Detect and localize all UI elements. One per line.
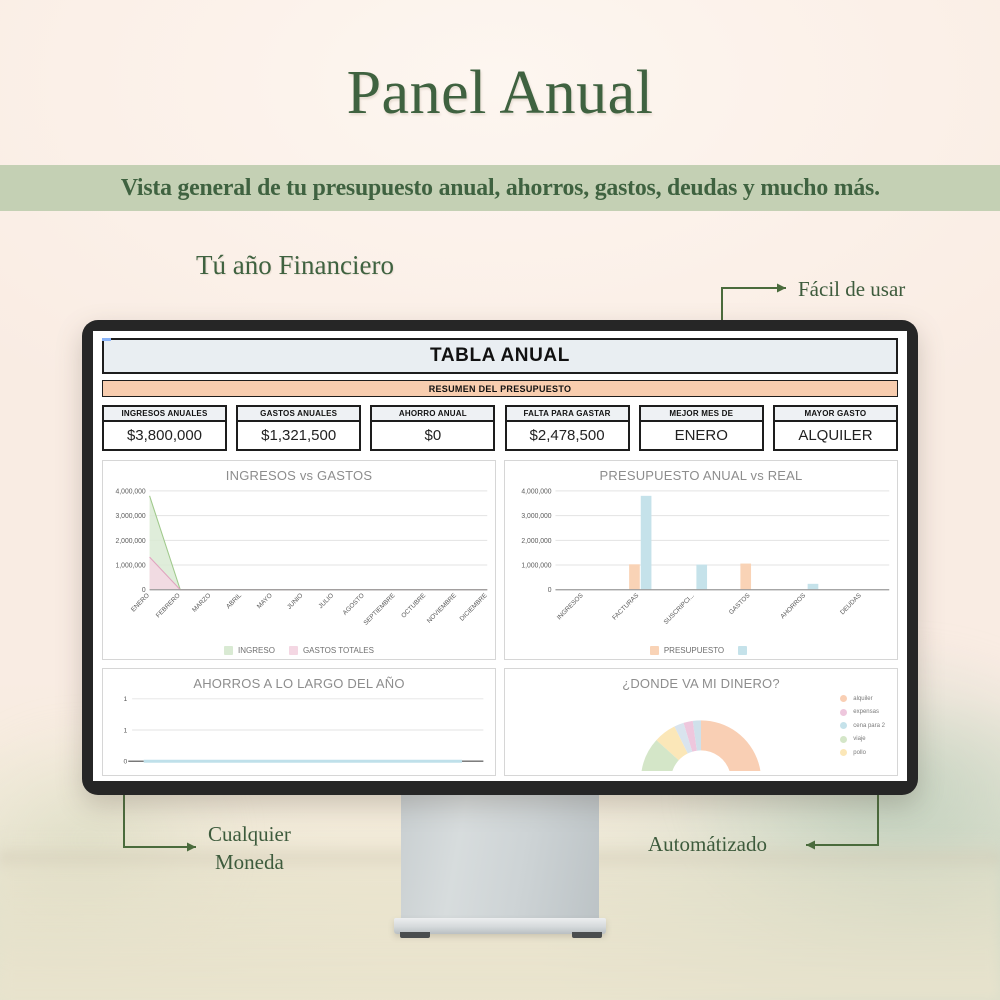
kpi-value: $3,800,000 <box>104 422 225 449</box>
svg-text:INGRESOS: INGRESOS <box>556 592 585 622</box>
chart-plot-area <box>505 691 897 771</box>
legend-label: GASTOS TOTALES <box>303 646 374 655</box>
legend-item-alquiler: alquiler <box>840 695 885 702</box>
chart-title: ¿DONDE VA MI DINERO? <box>505 669 897 691</box>
svg-text:JULIO: JULIO <box>317 592 335 610</box>
svg-text:OCTUBRE: OCTUBRE <box>400 592 427 620</box>
monitor-foot-right <box>572 932 602 938</box>
chart-title: AHORROS A LO LARGO DEL AÑO <box>103 669 495 691</box>
svg-text:0: 0 <box>123 759 127 766</box>
sheet-section-band: RESUMEN DEL PRESUPUESTO <box>102 380 898 397</box>
svg-text:AHORROS: AHORROS <box>779 592 807 621</box>
svg-text:MAYO: MAYO <box>256 592 274 610</box>
poster-canvas: Panel Anual Vista general de tu presupue… <box>0 0 1000 1000</box>
kpi-value: $2,478,500 <box>507 422 628 449</box>
kpi-value: $0 <box>372 422 493 449</box>
svg-text:3,000,000: 3,000,000 <box>521 513 551 520</box>
svg-text:ABRIL: ABRIL <box>225 592 243 611</box>
svg-text:JUNIO: JUNIO <box>286 592 304 611</box>
legend-item-ingreso: INGRESO <box>224 646 275 655</box>
legend-item-presupuesto: PRESUPUESTO <box>650 646 724 655</box>
chart-plot-area: 01,000,0002,000,0003,000,0004,000,000ING… <box>505 483 897 655</box>
chart-card-donde-va-mi-dinero[interactable]: ¿DONDE VA MI DINERO? alquiler expen <box>504 668 898 776</box>
charts-grid: INGRESOS vs GASTOS 01,000,0002,000,0003,… <box>102 460 898 776</box>
legend-label: expensas <box>853 709 879 715</box>
kpi-label: MAYOR GASTO <box>775 407 896 422</box>
kpi-card-gastos-anuales[interactable]: GASTOS ANUALES $1,321,500 <box>236 405 361 451</box>
svg-text:2,000,000: 2,000,000 <box>521 538 551 545</box>
kpi-card-mayor-gasto[interactable]: MAYOR GASTO ALQUILER <box>773 405 898 451</box>
kpi-value: ALQUILER <box>775 422 896 449</box>
svg-text:2,000,000: 2,000,000 <box>116 538 146 545</box>
svg-text:FACTURAS: FACTURAS <box>611 592 641 622</box>
svg-text:NOVIEMBRE: NOVIEMBRE <box>426 592 459 625</box>
legend-swatch <box>650 646 659 655</box>
callout-automatizado: Automátizado <box>648 832 767 857</box>
legend-swatch <box>289 646 298 655</box>
callout-cualquier-moneda: Cualquier Moneda <box>208 820 291 877</box>
svg-text:0: 0 <box>548 587 552 594</box>
svg-text:4,000,000: 4,000,000 <box>116 488 146 495</box>
subtitle-band: Vista general de tu presupuesto anual, a… <box>0 165 1000 211</box>
kpi-label: GASTOS ANUALES <box>238 407 359 422</box>
kpi-card-mejor-mes-de[interactable]: MEJOR MES DE ENERO <box>639 405 764 451</box>
svg-text:1,000,000: 1,000,000 <box>116 562 146 569</box>
kpi-label: AHORRO ANUAL <box>372 407 493 422</box>
kpi-card-ahorro-anual[interactable]: AHORRO ANUAL $0 <box>370 405 495 451</box>
kpi-card-falta-para-gastar[interactable]: FALTA PARA GASTAR $2,478,500 <box>505 405 630 451</box>
legend-item-real <box>738 646 752 655</box>
kpi-label: INGRESOS ANUALES <box>104 407 225 422</box>
kpi-row: INGRESOS ANUALES $3,800,000 GASTOS ANUAL… <box>102 405 898 451</box>
legend-label: PRESUPUESTO <box>664 646 724 655</box>
callout-moneda-line1: Cualquier <box>208 820 291 848</box>
kpi-value: $1,321,500 <box>238 422 359 449</box>
legend-item-cena-para-2: cena para 2 <box>840 722 885 729</box>
legend-dot <box>840 749 847 756</box>
legend-item-viaje: viaje <box>840 736 885 743</box>
callout-facil-de-usar: Fácil de usar <box>798 277 905 302</box>
callout-moneda-line2: Moneda <box>208 848 291 876</box>
legend-dot <box>840 709 847 716</box>
donut-legend: alquiler expensas cena para 2 <box>840 695 885 756</box>
kpi-label: FALTA PARA GASTAR <box>507 407 628 422</box>
chart-card-presupuesto-vs-real[interactable]: PRESUPUESTO ANUAL vs REAL 01,000,0002,00… <box>504 460 898 660</box>
legend-label: cena para 2 <box>853 723 885 729</box>
monitor-foot-left <box>400 932 430 938</box>
chart-legend: INGRESO GASTOS TOTALES <box>103 646 495 655</box>
legend-label: alquiler <box>853 696 872 702</box>
monitor-bezel: TABLA ANUAL RESUMEN DEL PRESUPUESTO INGR… <box>82 320 918 795</box>
svg-text:SUSCRIPCI...: SUSCRIPCI... <box>663 592 696 626</box>
svg-text:AGOSTO: AGOSTO <box>342 592 366 617</box>
svg-text:4,000,000: 4,000,000 <box>521 488 551 495</box>
legend-label: INGRESO <box>238 646 275 655</box>
chart-title: PRESUPUESTO ANUAL vs REAL <box>505 461 897 483</box>
svg-text:SEPTIEMBRE: SEPTIEMBRE <box>362 592 397 627</box>
legend-label: viaje <box>853 736 865 742</box>
kpi-value: ENERO <box>641 422 762 449</box>
legend-item-gastos-totales: GASTOS TOTALES <box>289 646 374 655</box>
spreadsheet-dashboard: TABLA ANUAL RESUMEN DEL PRESUPUESTO INGR… <box>93 331 907 776</box>
svg-text:DICIEMBRE: DICIEMBRE <box>459 592 490 623</box>
legend-item-pollo: pollo <box>840 749 885 756</box>
svg-text:3,000,000: 3,000,000 <box>116 513 146 520</box>
chart-plot-area: 011 <box>103 691 495 771</box>
chart-title: INGRESOS vs GASTOS <box>103 461 495 483</box>
svg-text:FEBRERO: FEBRERO <box>155 592 182 619</box>
monitor-stand-neck <box>401 795 599 920</box>
page-title: Panel Anual <box>0 58 1000 129</box>
chart-card-ahorros-a-lo-largo-del-ano[interactable]: AHORROS A LO LARGO DEL AÑO 011 <box>102 668 496 776</box>
kpi-label: MEJOR MES DE <box>641 407 762 422</box>
sheet-title: TABLA ANUAL <box>102 338 898 374</box>
chart-plot-area: 01,000,0002,000,0003,000,0004,000,000ENE… <box>103 483 495 655</box>
cell-selection-marker <box>102 338 111 341</box>
legend-swatch <box>738 646 747 655</box>
svg-text:DEUDAS: DEUDAS <box>839 592 863 617</box>
legend-dot <box>840 722 847 729</box>
svg-text:ENERO: ENERO <box>130 592 151 613</box>
legend-item-expensas: expensas <box>840 709 885 716</box>
legend-dot <box>840 695 847 702</box>
kpi-card-ingresos-anuales[interactable]: INGRESOS ANUALES $3,800,000 <box>102 405 227 451</box>
svg-text:1,000,000: 1,000,000 <box>521 562 551 569</box>
chart-legend: PRESUPUESTO <box>505 646 897 655</box>
svg-text:GASTOS: GASTOS <box>728 592 752 617</box>
legend-dot <box>840 736 847 743</box>
legend-swatch <box>224 646 233 655</box>
subtitle-text: Vista general de tu presupuesto anual, a… <box>121 175 880 202</box>
monitor-screen: TABLA ANUAL RESUMEN DEL PRESUPUESTO INGR… <box>93 331 907 781</box>
chart-card-ingresos-vs-gastos[interactable]: INGRESOS vs GASTOS 01,000,0002,000,0003,… <box>102 460 496 660</box>
sub-heading: Tú año Financiero <box>196 250 394 281</box>
svg-text:1: 1 <box>123 727 127 734</box>
svg-text:MARZO: MARZO <box>191 592 212 614</box>
svg-text:1: 1 <box>123 696 127 703</box>
legend-label: pollo <box>853 750 866 756</box>
